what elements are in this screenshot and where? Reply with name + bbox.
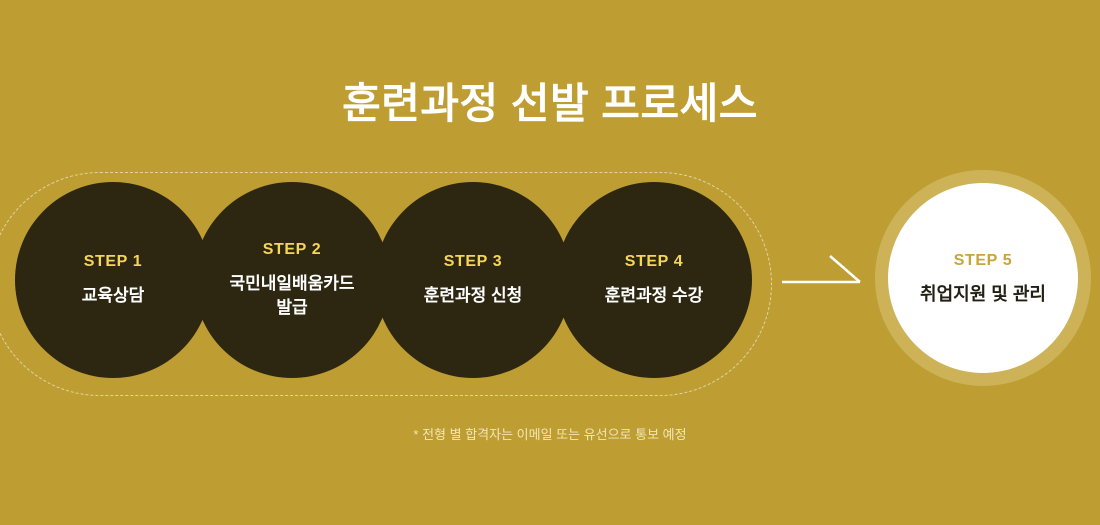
step-text-5: 취업지원 및 관리 [920,282,1046,306]
step-label-2: STEP 2 [263,240,321,260]
step-label-4: STEP 4 [625,252,683,272]
step-label-3: STEP 3 [444,252,502,272]
page-title: 훈련과정 선발 프로세스 [0,78,1100,130]
step-circle-1: STEP 1 교육상담 [15,182,211,378]
step-circle-2: STEP 2 국민내일배움카드 발급 [194,182,390,378]
step-text-3: 훈련과정 신청 [424,284,523,308]
footnote-text: * 전형 별 합격자는 이메일 또는 유선으로 통보 예정 [0,425,1100,445]
step-circle-5: STEP 5 취업지원 및 관리 [888,183,1078,373]
step-label-5: STEP 5 [954,251,1012,271]
step-text-4: 훈련과정 수강 [605,284,704,308]
step-label-1: STEP 1 [84,252,142,272]
step-text-1: 교육상담 [82,284,145,308]
step-circle-4: STEP 4 훈련과정 수강 [556,182,752,378]
process-infographic: 훈련과정 선발 프로세스 STEP 1 교육상담 STEP 2 국민내일배움카드… [0,0,1100,525]
step-circle-3: STEP 3 훈련과정 신청 [375,182,571,378]
step-text-2: 국민내일배움카드 발급 [229,272,354,320]
arrow-right-icon [782,252,868,296]
